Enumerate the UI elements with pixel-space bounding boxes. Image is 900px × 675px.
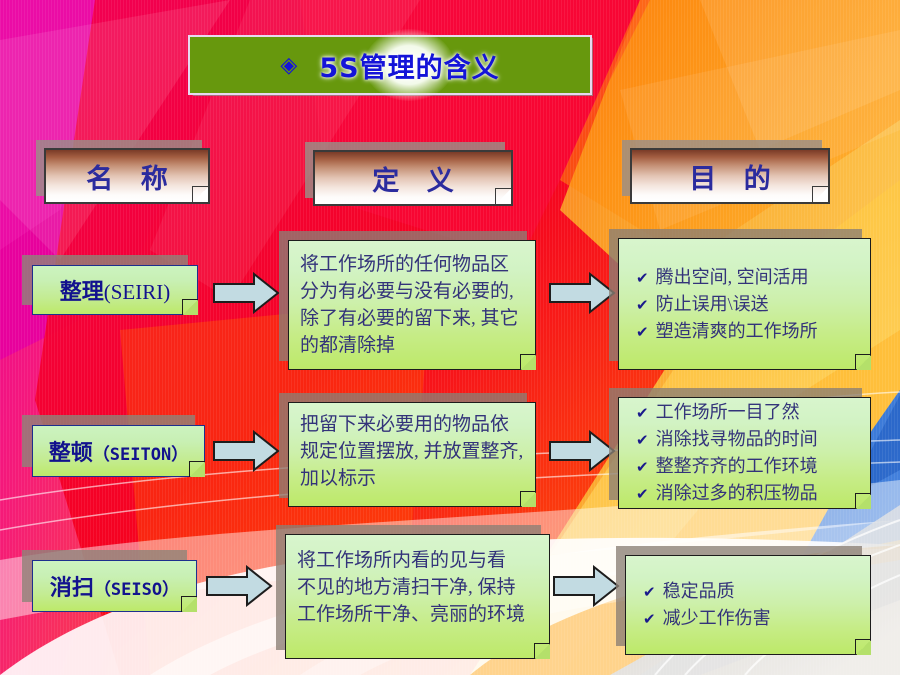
arrow-definition-to-purpose-3 (552, 565, 620, 607)
list-item: ✔稳定品质 (643, 578, 861, 605)
purpose-list: ✔稳定品质 ✔减少工作伤害 (625, 578, 871, 632)
diamond-icon: ◈ (280, 53, 297, 78)
column-header-label: 定 义 (363, 159, 462, 198)
name-card-seiton: 整顿（SEITON） (32, 425, 205, 477)
list-item: ✔消除找寻物品的时间 (636, 426, 861, 453)
definition-card-seiton: 把留下来必要用的物品依 规定位置摆放, 并放置整齐, 加以标示 (288, 402, 536, 507)
check-icon: ✔ (636, 319, 649, 345)
right-arrow-icon (212, 272, 280, 314)
page-fold-corner (812, 186, 828, 202)
definition-card-seiso: 将工作场所内看的见与看 不见的地方清扫干净, 保持 工作场所干净、亮丽的环境 (285, 534, 550, 659)
definition-text: 将工作场所的任何物品区 分为有必要与没有必要的, 除了有必要的留下来, 其它 的… (288, 251, 536, 359)
right-arrow-icon (205, 565, 273, 607)
list-item: ✔工作场所一目了然 (636, 399, 861, 426)
list-item: ✔整整齐齐的工作环境 (636, 453, 861, 480)
arrow-definition-to-purpose-1 (548, 272, 616, 314)
page-fold-corner (495, 188, 511, 204)
check-icon: ✔ (636, 454, 649, 480)
check-icon: ✔ (643, 579, 656, 605)
purpose-card-seiri: ✔腾出空间, 空间活用 ✔防止误用\误送 ✔塑造清爽的工作场所 (618, 238, 871, 370)
right-arrow-icon (548, 430, 616, 472)
right-arrow-icon (212, 430, 280, 472)
list-item: ✔防止误用\误送 (636, 291, 861, 318)
column-header-label: 目 的 (680, 157, 779, 196)
column-header-purpose: 目 的 (630, 148, 830, 204)
name-card-seiri: 整理(SEIRI) (32, 265, 198, 315)
header-plate: 名 称 (44, 148, 210, 204)
check-icon: ✔ (636, 481, 649, 507)
definition-text: 把留下来必要用的物品依 规定位置摆放, 并放置整齐, 加以标示 (288, 411, 536, 492)
page-fold-corner (192, 186, 208, 202)
slide-title-bar: ◈ 5S管理的含义 (188, 35, 592, 95)
name-card-label: 消扫（SEISO） (32, 570, 197, 602)
definition-card-seiri: 将工作场所的任何物品区 分为有必要与没有必要的, 除了有必要的留下来, 其它 的… (288, 240, 536, 370)
slide-title-text: 5S管理的含义 (319, 46, 499, 85)
arrow-name-to-definition-1 (212, 272, 280, 314)
check-icon: ✔ (636, 427, 649, 453)
list-item: ✔消除过多的积压物品 (636, 480, 861, 507)
check-icon: ✔ (643, 606, 656, 632)
arrow-name-to-definition-2 (212, 430, 280, 472)
name-card-seiso: 消扫（SEISO） (32, 560, 197, 612)
right-arrow-icon (552, 565, 620, 607)
purpose-list: ✔工作场所一目了然 ✔消除找寻物品的时间 ✔整整齐齐的工作环境 ✔消除过多的积压… (618, 399, 871, 507)
purpose-list: ✔腾出空间, 空间活用 ✔防止误用\误送 ✔塑造清爽的工作场所 (618, 264, 871, 345)
header-plate: 目 的 (630, 148, 830, 204)
list-item: ✔减少工作伤害 (643, 605, 861, 632)
purpose-card-seiton: ✔工作场所一目了然 ✔消除找寻物品的时间 ✔整整齐齐的工作环境 ✔消除过多的积压… (618, 397, 871, 509)
list-item: ✔塑造清爽的工作场所 (636, 318, 861, 345)
arrow-name-to-definition-3 (205, 565, 273, 607)
list-item: ✔腾出空间, 空间活用 (636, 264, 861, 291)
right-arrow-icon (548, 272, 616, 314)
check-icon: ✔ (636, 265, 649, 291)
check-icon: ✔ (636, 292, 649, 318)
header-plate: 定 义 (313, 150, 513, 206)
definition-text: 将工作场所内看的见与看 不见的地方清扫干净, 保持 工作场所干净、亮丽的环境 (285, 547, 550, 628)
column-header-name: 名 称 (44, 148, 210, 204)
column-header-definition: 定 义 (313, 150, 513, 206)
arrow-definition-to-purpose-2 (548, 430, 616, 472)
column-header-label: 名 称 (77, 157, 176, 196)
name-card-label: 整理(SEIRI) (32, 274, 198, 306)
name-card-label: 整顿（SEITON） (32, 435, 205, 467)
purpose-card-seiso: ✔稳定品质 ✔减少工作伤害 (625, 555, 871, 655)
check-icon: ✔ (636, 400, 649, 426)
